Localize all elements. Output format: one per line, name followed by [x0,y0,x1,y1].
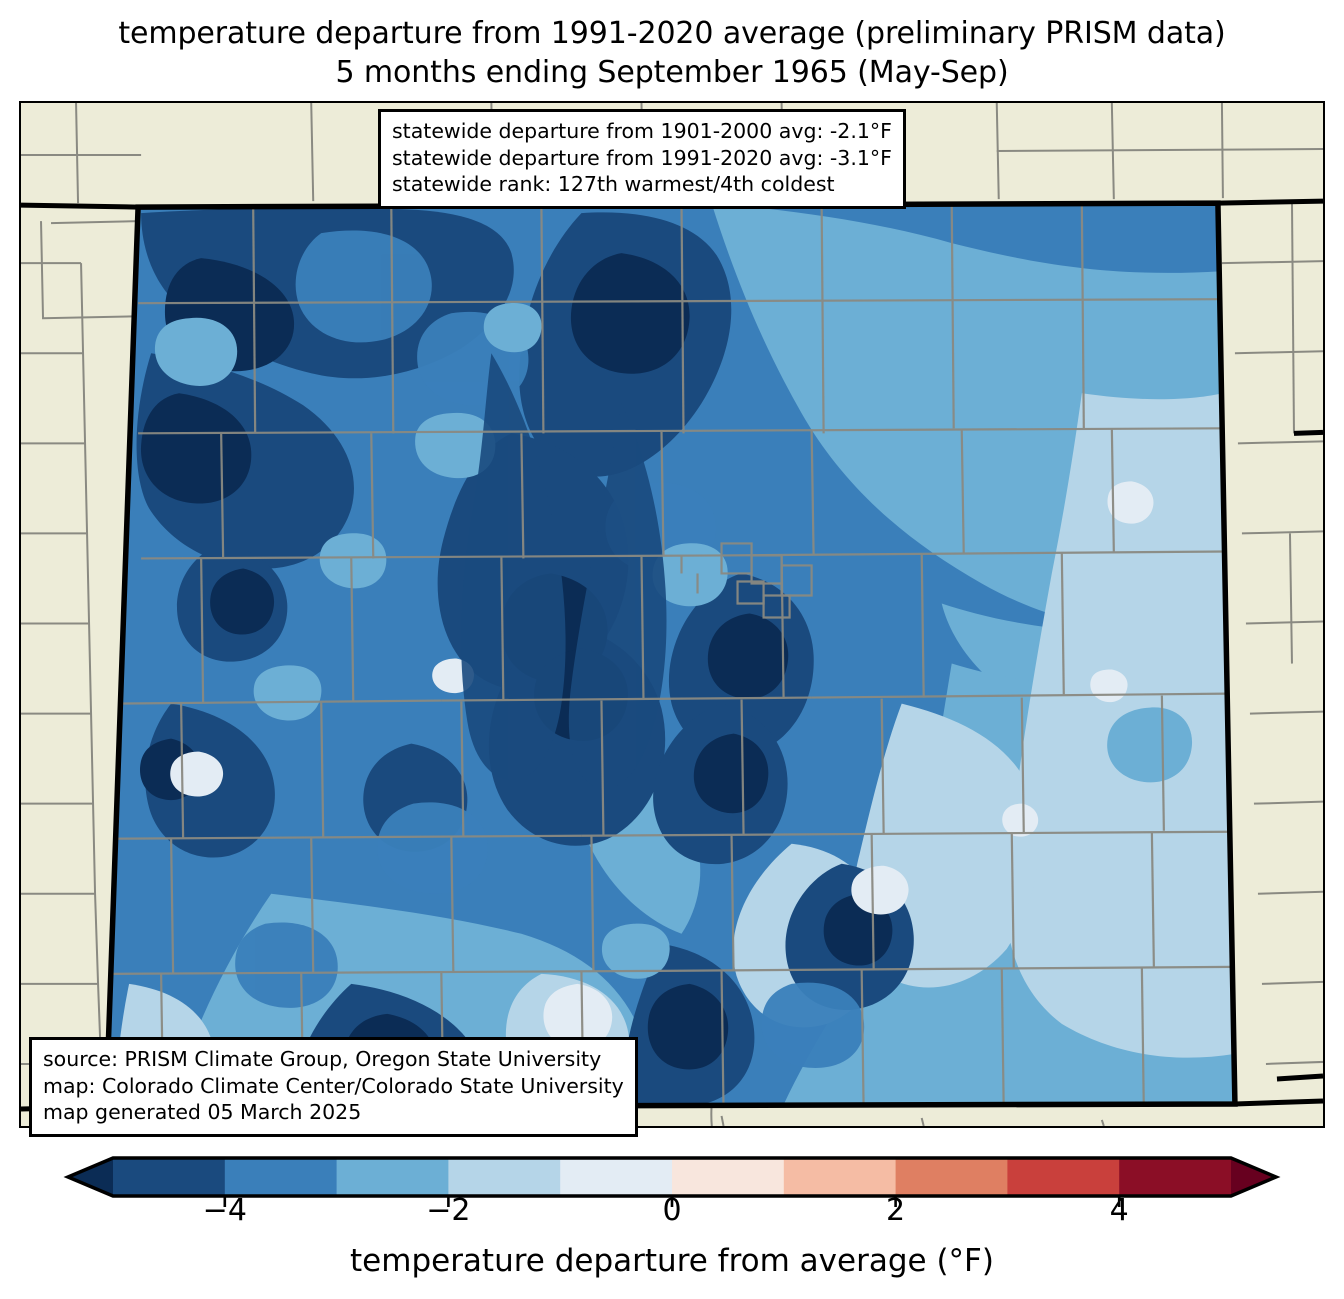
map-canvas [21,103,1323,1126]
climate-map-page: temperature departure from 1991-2020 ave… [0,0,1344,1299]
stats-departure-1901-2000: statewide departure from 1901-2000 avg: … [392,118,892,145]
map-frame [19,101,1325,1128]
colorbar-band [672,1158,784,1196]
colorbar-band [560,1158,672,1196]
colorbar-tick-label: −4 [203,1194,247,1228]
colorbar-band [1007,1158,1119,1196]
map-credit-line: map: Colorado Climate Center/Colorado St… [43,1073,624,1100]
colorbar-tick-labels: −4−2024 [0,1194,1344,1238]
colorbar-band [337,1158,449,1196]
page-title: temperature departure from 1991-2020 ave… [0,14,1344,92]
colorbar-bands [68,1158,1276,1196]
title-line-2: 5 months ending September 1965 (May-Sep) [0,53,1344,92]
source-attribution-box: source: PRISM Climate Group, Oregon Stat… [29,1037,638,1137]
colorbar-tick-label: 0 [662,1194,681,1228]
colorbar-tick-label: 4 [1110,1194,1129,1228]
colorbar-axis-label: temperature departure from average (°F) [0,1242,1344,1280]
stats-rank: statewide rank: 127th warmest/4th coldes… [392,171,892,198]
colorbar-band [784,1158,896,1196]
colorbar-band [225,1158,337,1196]
colorbar-extend-max [1231,1158,1276,1196]
colorbar-tick-label: −2 [426,1194,470,1228]
temperature-contour-field [101,198,1242,1114]
source-line: source: PRISM Climate Group, Oregon Stat… [43,1046,624,1073]
title-line-1: temperature departure from 1991-2020 ave… [0,14,1344,53]
colorado-temperature-map [21,103,1323,1126]
colorbar-band [1119,1158,1231,1196]
stats-departure-1991-2020: statewide departure from 1991-2020 avg: … [392,145,892,172]
colorbar-extend-min [68,1158,113,1196]
colorbar-tick-label: 2 [886,1194,905,1228]
colorbar-band [896,1158,1008,1196]
map-generated-date: map generated 05 March 2025 [43,1099,624,1126]
colorbar-band [448,1158,560,1196]
statewide-stats-box: statewide departure from 1901-2000 avg: … [378,109,906,209]
colorbar-band [113,1158,225,1196]
